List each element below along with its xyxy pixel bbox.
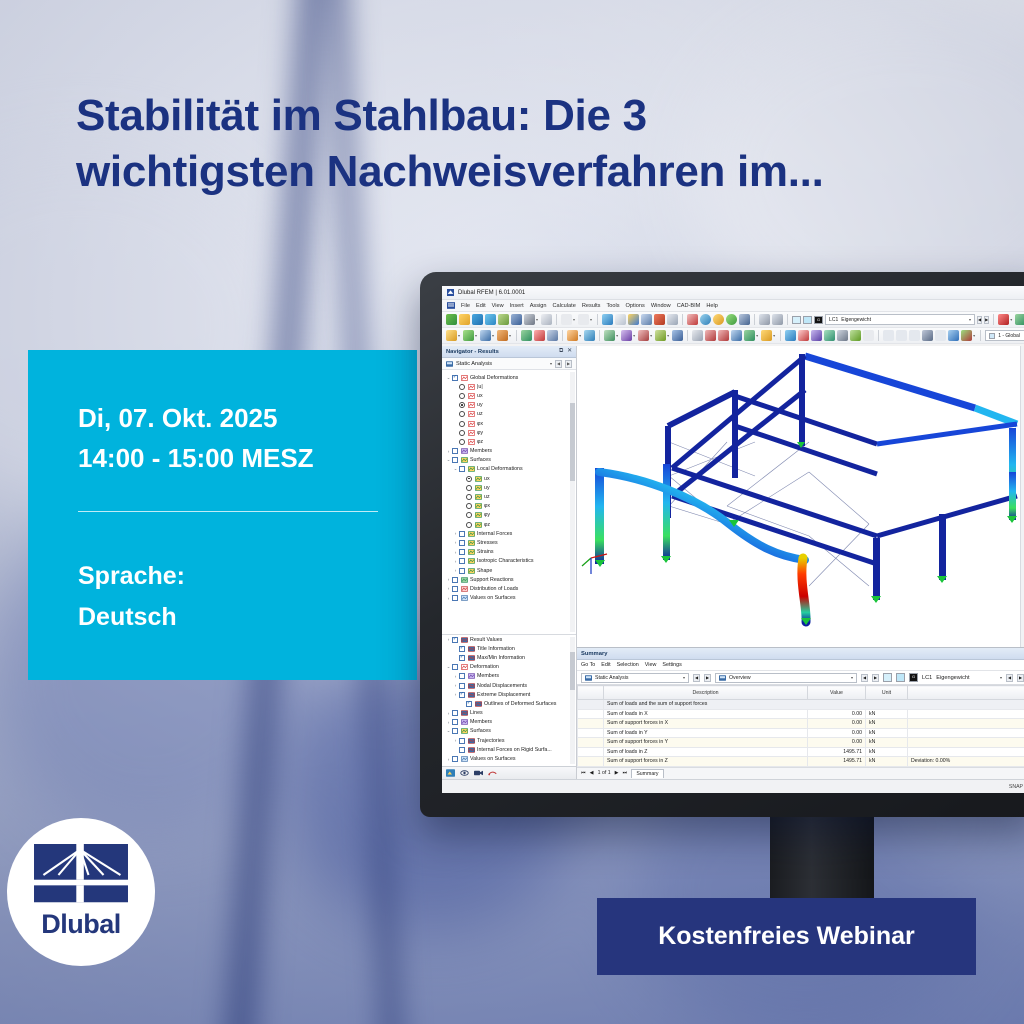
right-column-3 xyxy=(1009,472,1016,520)
member-hinge-icon[interactable] xyxy=(547,330,558,341)
surface-load-icon[interactable] xyxy=(621,330,632,341)
tree-expander[interactable]: › xyxy=(445,449,452,454)
surface-load-caret[interactable]: ▾ xyxy=(633,333,635,338)
tree-item[interactable]: ›Support Reactions xyxy=(442,575,576,584)
tree-item-label: Deformation xyxy=(470,664,499,670)
load-case-next-button[interactable]: ▶ xyxy=(984,316,989,324)
tree-radio[interactable] xyxy=(466,503,472,509)
summary-row-value: 0.00 xyxy=(808,709,866,719)
cloud-save-icon[interactable] xyxy=(485,314,496,325)
tree-expander[interactable]: › xyxy=(445,577,452,582)
tree-item[interactable]: uz xyxy=(442,492,576,501)
cloud-open-icon[interactable] xyxy=(472,314,483,325)
section-icon[interactable] xyxy=(922,330,933,341)
summary-table-row[interactable]: Sum of loads in Y0.00kN xyxy=(578,728,1024,738)
show-solids-icon[interactable] xyxy=(837,330,848,341)
summary-header: Summary xyxy=(577,648,1024,660)
surfaces-icon xyxy=(475,503,482,509)
open-file-icon[interactable] xyxy=(459,314,470,325)
pan-view-icon[interactable] xyxy=(772,314,783,325)
summary-title: Summary xyxy=(581,651,607,657)
dlubal-wordmark: Dlubal xyxy=(41,909,121,940)
navigator-analysis-value: Static Analysis xyxy=(456,361,492,367)
tree-radio[interactable] xyxy=(459,430,465,436)
redo-icon[interactable] xyxy=(578,314,589,325)
summary-table-row[interactable]: Sum of loads in Z1495.71kN xyxy=(578,747,1024,757)
summary-view-icon xyxy=(719,675,726,681)
summary-menu-selection[interactable]: Selection xyxy=(617,662,639,668)
tree-expander[interactable]: › xyxy=(452,683,459,688)
deformation-icon xyxy=(468,430,475,436)
zoom-all-icon[interactable] xyxy=(739,314,750,325)
tree-checkbox[interactable]: ✓ xyxy=(459,646,465,652)
tree-item-label: Stresses xyxy=(477,540,498,546)
summary-analysis-combo[interactable]: Static Analysis ▾ xyxy=(581,673,689,683)
summary-tab[interactable]: Summary xyxy=(631,769,663,778)
window-layout-icon[interactable] xyxy=(641,314,652,325)
tree-checkbox[interactable] xyxy=(452,756,458,762)
show-surfaces-icon[interactable] xyxy=(798,330,809,341)
tree-checkbox[interactable] xyxy=(452,710,458,716)
tree-expander[interactable]: ⌄ xyxy=(445,457,452,463)
summary-table[interactable]: Description Value Unit Sum of loads and … xyxy=(577,685,1024,767)
summary-view-caret[interactable]: ▾ xyxy=(851,675,853,680)
filter-results-icon[interactable] xyxy=(785,330,796,341)
tree-item[interactable]: ⌄Deformation xyxy=(442,663,576,672)
toolbar-separator-6 xyxy=(993,314,994,325)
menu-item-help[interactable]: Help xyxy=(706,303,718,309)
workspace-right: Summary Go To Edit Selection View Settin… xyxy=(577,346,1024,779)
summary-row-index xyxy=(578,709,604,719)
tree-expander[interactable]: › xyxy=(452,540,459,545)
right-column-1 xyxy=(873,538,880,600)
tree-item[interactable]: ›Members xyxy=(442,672,576,681)
load-case-caret[interactable]: ▾ xyxy=(969,317,971,322)
calculate-icon[interactable] xyxy=(744,330,755,341)
tree-expander[interactable]: › xyxy=(452,559,459,564)
status-snap-indicator[interactable]: SNAP xyxy=(1009,784,1023,790)
menu-item-view[interactable]: View xyxy=(492,303,504,309)
tree-checkbox[interactable] xyxy=(452,586,458,592)
navigator-tab-strip[interactable] xyxy=(442,766,576,779)
solid-load-icon[interactable] xyxy=(638,330,649,341)
tree-checkbox[interactable] xyxy=(459,738,465,744)
zoom-window-icon[interactable] xyxy=(726,314,737,325)
tree-expander[interactable]: › xyxy=(452,568,459,573)
tree-item[interactable]: ›Shape xyxy=(442,566,576,575)
tree-checkbox[interactable] xyxy=(459,673,465,679)
summary-analysis-next[interactable]: ▶ xyxy=(704,674,711,682)
print-icon[interactable] xyxy=(524,314,535,325)
new-model-icon[interactable] xyxy=(446,314,457,325)
new-member-icon[interactable] xyxy=(480,330,491,341)
axis-display-icon[interactable] xyxy=(850,330,861,341)
summary-row-description: Sum of loads in X xyxy=(604,709,808,719)
tree-expander[interactable]: › xyxy=(445,711,452,716)
printout-report-icon[interactable] xyxy=(541,314,552,325)
nodal-icon xyxy=(468,683,475,689)
clipping-icon[interactable] xyxy=(948,330,959,341)
summary-view-combo[interactable]: Overview ▾ xyxy=(715,673,857,683)
tree-expander[interactable]: › xyxy=(452,692,459,697)
new-surface-icon[interactable] xyxy=(497,330,508,341)
coordinate-system-combo[interactable]: 1 - Global xyxy=(985,330,1024,341)
tree-item-label: Members xyxy=(470,719,492,725)
imperfection-caret[interactable]: ▾ xyxy=(667,333,669,338)
tree-item[interactable]: ›Lines xyxy=(442,709,576,718)
tree-item-label: Trajectories xyxy=(477,738,504,744)
tree-item[interactable]: φz xyxy=(442,437,576,446)
show-panel-icon[interactable] xyxy=(628,314,639,325)
building-model-icon[interactable] xyxy=(705,330,716,341)
tree-checkbox[interactable] xyxy=(459,466,465,472)
navigator-tree-scrollbar[interactable] xyxy=(570,372,575,632)
deformation-icon xyxy=(468,384,475,390)
tree-radio[interactable] xyxy=(459,421,465,427)
frame-mid-2 xyxy=(663,464,670,560)
tree-expander[interactable]: › xyxy=(445,586,452,591)
zoom-in-icon[interactable] xyxy=(700,314,711,325)
tree-item[interactable]: φy xyxy=(442,428,576,437)
analysis-next-button[interactable]: ▶ xyxy=(565,360,572,368)
color-legend-icon[interactable] xyxy=(961,330,972,341)
tree-checkbox[interactable]: ✓ xyxy=(466,701,472,707)
summary-menu-bar[interactable]: Go To Edit Selection View Settings xyxy=(577,660,1024,671)
dlubal-logo-badge: Dlubal xyxy=(7,818,155,966)
deformation-dropdown-caret[interactable]: ▾ xyxy=(1010,317,1012,322)
nodal-load-caret[interactable]: ▾ xyxy=(579,333,581,338)
summary-lc-next[interactable]: ▶ xyxy=(1017,674,1024,682)
nodal-load-icon[interactable] xyxy=(567,330,578,341)
load-case-prev-button[interactable]: ◀ xyxy=(977,316,982,324)
new-node-icon[interactable] xyxy=(446,330,457,341)
event-time: 14:00 - 15:00 MESZ xyxy=(78,438,417,478)
tree-item[interactable]: ›Values on Surfaces xyxy=(442,754,576,763)
tree-item[interactable]: ›Strains xyxy=(442,548,576,557)
line-support-icon[interactable] xyxy=(534,330,545,341)
deformation-display-icon[interactable] xyxy=(998,314,1009,325)
toolbar-row-secondary[interactable]: ▾ ▾ ▾ ▾ ▾ ▾ ▾ ▾ xyxy=(442,328,1024,344)
menu-item-options[interactable]: Options xyxy=(626,303,645,309)
tree-checkbox[interactable] xyxy=(452,719,458,725)
tree-checkbox[interactable] xyxy=(452,457,458,463)
toolbar2-separator-5 xyxy=(780,330,781,341)
page-title: Stabilität im Stahlbau: Die 3 wichtigste… xyxy=(76,88,956,201)
tree-item[interactable]: |u| xyxy=(442,382,576,391)
menu-item-cad-bim[interactable]: CAD-BIM xyxy=(677,303,701,309)
navigator-tree-display[interactable]: ›✓Result Values✓Title Information✓Max/Mi… xyxy=(442,634,576,766)
analysis-caret[interactable]: ▾ xyxy=(550,361,552,366)
measure-icon[interactable] xyxy=(687,314,698,325)
tree-item[interactable]: ›✓Result Values xyxy=(442,635,576,644)
page-prev-button[interactable]: ◀ xyxy=(590,770,594,776)
support-reaction-icon[interactable] xyxy=(1015,314,1024,325)
summary-swatch-dark: G xyxy=(909,673,918,682)
summary-table-row[interactable]: Sum of support forces in X0.00kN xyxy=(578,719,1024,729)
summary-menu-view[interactable]: View xyxy=(645,662,657,668)
tree-checkbox[interactable] xyxy=(459,568,465,574)
tree-item[interactable]: ›Nodal Displacements xyxy=(442,681,576,690)
summary-row-unit: kN xyxy=(866,728,908,738)
show-navigator-icon[interactable] xyxy=(602,314,613,325)
delete-object-icon[interactable] xyxy=(672,330,683,341)
tree-expander[interactable]: › xyxy=(452,674,459,679)
tree-expander[interactable]: ⌄ xyxy=(445,664,452,670)
navigator-float-icon[interactable]: ⧉ xyxy=(559,348,563,355)
navigator-close-icon[interactable]: ✕ xyxy=(567,348,572,355)
steel-frame-model xyxy=(577,346,1024,642)
page-last-button[interactable]: ⏭ xyxy=(623,770,628,777)
tree-item[interactable]: ›Values on Surfaces xyxy=(442,594,576,603)
tree-item-label: Result Values xyxy=(470,637,502,643)
tree-item[interactable]: Internal Forces on Rigid Surfa... xyxy=(442,745,576,754)
summary-lc-caret[interactable]: ▾ xyxy=(1000,675,1002,680)
summary-menu-settings[interactable]: Settings xyxy=(662,662,681,668)
summary-row-index xyxy=(578,738,604,748)
menu-item-tools[interactable]: Tools xyxy=(606,303,619,309)
tree-checkbox[interactable]: ✓ xyxy=(459,692,465,698)
summary-menu-edit[interactable]: Edit xyxy=(601,662,610,668)
summary-table-row[interactable]: Sum of support forces in Z1495.71kNDevia… xyxy=(578,757,1024,767)
summary-menu-goto[interactable]: Go To xyxy=(581,662,595,668)
results-tab-icon[interactable] xyxy=(488,769,497,777)
tree-item[interactable]: φz xyxy=(442,520,576,529)
tree-expander[interactable]: › xyxy=(445,637,452,642)
navigator-analysis-selector[interactable]: Static Analysis ▾ ◀ ▶ xyxy=(442,358,576,370)
zoom-out-icon[interactable] xyxy=(713,314,724,325)
render-tab-icon[interactable] xyxy=(474,769,483,777)
tree-item[interactable]: ⌄Local Deformations xyxy=(442,465,576,474)
visibility-tab-icon[interactable] xyxy=(460,769,469,777)
tree-checkbox[interactable] xyxy=(459,531,465,537)
tree-checkbox[interactable] xyxy=(459,540,465,546)
render-view-icon[interactable] xyxy=(654,314,665,325)
member-load-caret[interactable]: ▾ xyxy=(616,333,618,338)
navigator-display-scrollbar[interactable] xyxy=(570,637,575,764)
tree-expander[interactable]: › xyxy=(445,720,452,725)
tree-checkbox[interactable] xyxy=(452,577,458,583)
member-load-icon[interactable] xyxy=(604,330,615,341)
tree-checkbox[interactable] xyxy=(459,683,465,689)
summary-footer[interactable]: ⏮ ◀ 1 of 1 ▶ ⏭ Summary xyxy=(577,767,1024,779)
tree-radio[interactable] xyxy=(459,439,465,445)
line-style-icon[interactable] xyxy=(863,330,874,341)
toolbar-row-primary[interactable]: ▾ ▾ ▾ xyxy=(442,312,1024,328)
tree-radio[interactable] xyxy=(466,494,472,500)
navigator-header: Navigator - Results ⧉ ✕ xyxy=(442,346,576,358)
tree-expander[interactable]: ⌄ xyxy=(445,375,452,381)
tree-item[interactable]: φy xyxy=(442,511,576,520)
surface-dropdown-caret[interactable]: ▾ xyxy=(509,333,511,338)
tree-expander[interactable]: › xyxy=(452,550,459,555)
summary-row-note: Deviation: 0.00% xyxy=(908,757,1024,767)
app-title-text: Dlubal RFEM | 6.01.0001 xyxy=(458,290,525,296)
tree-item-label: Members xyxy=(470,448,492,454)
tree-radio[interactable] xyxy=(466,512,472,518)
legend-caret[interactable]: ▾ xyxy=(973,333,975,338)
show-members-icon[interactable] xyxy=(811,330,822,341)
tree-item[interactable]: ›Distribution of Loads xyxy=(442,584,576,593)
summary-table-row[interactable]: Sum of support forces in Y0.00kN xyxy=(578,738,1024,748)
load-case-combo[interactable]: LC1 Eigengewicht ▾ xyxy=(825,314,975,325)
tree-item[interactable]: ›Members xyxy=(442,718,576,727)
analysis-prev-button[interactable]: ◀ xyxy=(555,360,562,368)
tree-expander[interactable]: › xyxy=(452,531,459,536)
node-dropdown-caret[interactable]: ▾ xyxy=(458,333,460,338)
navigator-tree-results[interactable]: ⌄✓Global Deformations|u|uxuyuzφxφyφz›Mem… xyxy=(442,370,576,634)
tree-expander[interactable]: › xyxy=(445,757,452,762)
app-menu-bar[interactable]: File Edit View Insert Assign Calculate R… xyxy=(442,300,1024,312)
event-date: Di, 07. Okt. 2025 xyxy=(78,398,417,438)
tree-item[interactable]: ›Isotropic Characteristics xyxy=(442,557,576,566)
tree-checkbox[interactable] xyxy=(452,448,458,454)
tree-checkbox[interactable]: ✓ xyxy=(452,375,458,381)
view-side-toolbar[interactable] xyxy=(1020,346,1024,647)
tree-radio[interactable] xyxy=(466,476,472,482)
save-icon[interactable] xyxy=(511,314,522,325)
load-case-code: LC1 xyxy=(829,317,838,323)
tree-item[interactable]: ux xyxy=(442,474,576,483)
new-line-icon[interactable] xyxy=(463,330,474,341)
tree-radio[interactable] xyxy=(466,522,472,528)
tree-item-label: Global Deformations xyxy=(470,375,518,381)
tree-item[interactable]: ›Internal Forces xyxy=(442,529,576,538)
tree-checkbox[interactable] xyxy=(452,664,458,670)
print-dropdown-caret[interactable]: ▾ xyxy=(536,317,538,322)
tree-item[interactable]: φx xyxy=(442,419,576,428)
summary-view-next[interactable]: ▶ xyxy=(872,674,879,682)
right-column-2 xyxy=(939,514,946,580)
surfaces-icon xyxy=(468,531,475,537)
tree-radio[interactable] xyxy=(466,485,472,491)
model-3d-view[interactable] xyxy=(577,346,1024,647)
purlins xyxy=(672,356,1017,564)
tree-radio[interactable] xyxy=(459,393,465,399)
rotate-view-icon[interactable] xyxy=(759,314,770,325)
summary-lc-prev[interactable]: ◀ xyxy=(1006,674,1013,682)
isosurface-icon[interactable] xyxy=(909,330,920,341)
tree-expander[interactable]: ⌄ xyxy=(452,466,459,472)
calculate-caret[interactable]: ▾ xyxy=(756,333,758,338)
tree-radio[interactable] xyxy=(459,402,465,408)
show-table-icon[interactable] xyxy=(615,314,626,325)
page-first-button[interactable]: ⏮ xyxy=(581,770,586,777)
tree-item[interactable]: φx xyxy=(442,502,576,511)
menu-item-edit[interactable]: Edit xyxy=(476,303,486,309)
imperfection-icon[interactable] xyxy=(655,330,666,341)
tree-item[interactable]: ›Stresses xyxy=(442,538,576,547)
tree-expander[interactable]: ⌄ xyxy=(445,728,452,734)
menu-item-results[interactable]: Results xyxy=(582,303,601,309)
menu-item-assign[interactable]: Assign xyxy=(530,303,547,309)
tree-checkbox[interactable]: ✓ xyxy=(452,637,458,643)
tree-radio[interactable] xyxy=(459,411,465,417)
tree-expander[interactable]: › xyxy=(445,596,452,601)
toolbar2-separator-7 xyxy=(980,330,981,341)
optimize-caret[interactable]: ▾ xyxy=(773,333,775,338)
summary-row-unit: kN xyxy=(866,709,908,719)
line-load-icon[interactable] xyxy=(584,330,595,341)
menu-item-file[interactable]: File xyxy=(461,303,470,309)
tree-item[interactable]: ›✓Extreme Displacement xyxy=(442,690,576,699)
isoband-icon[interactable] xyxy=(883,330,894,341)
surfaces-icon xyxy=(475,476,482,482)
summary-analysis-prev[interactable]: ◀ xyxy=(693,674,700,682)
tree-item[interactable]: uz xyxy=(442,410,576,419)
menu-item-window[interactable]: Window xyxy=(651,303,671,309)
show-loads-icon[interactable] xyxy=(824,330,835,341)
tree-checkbox[interactable] xyxy=(452,728,458,734)
members-icon xyxy=(468,673,475,679)
tree-checkbox[interactable] xyxy=(459,747,465,753)
surfaces-icon xyxy=(468,466,475,472)
angle-icon[interactable] xyxy=(935,330,946,341)
optimize-icon[interactable] xyxy=(761,330,772,341)
page-next-button[interactable]: ▶ xyxy=(615,770,619,776)
tree-item-label: Values on Surfaces xyxy=(470,595,516,601)
nodal-support-icon[interactable] xyxy=(521,330,532,341)
summary-view-prev[interactable]: ◀ xyxy=(861,674,868,682)
tree-checkbox[interactable]: ✓ xyxy=(459,655,465,661)
summary-row-index xyxy=(578,747,604,757)
tree-item[interactable]: ux xyxy=(442,391,576,400)
summary-table-row[interactable]: Sum of loads in X0.00kN xyxy=(578,709,1024,719)
project-icon[interactable] xyxy=(498,314,509,325)
solid-load-caret[interactable]: ▾ xyxy=(650,333,652,338)
summary-analysis-caret[interactable]: ▾ xyxy=(683,675,685,680)
tree-checkbox[interactable] xyxy=(452,595,458,601)
tree-item-label: Surfaces xyxy=(470,457,491,463)
undo-icon[interactable] xyxy=(561,314,572,325)
summary-selector-row[interactable]: Static Analysis ▾ ◀ ▶ Overview ▾ ◀ xyxy=(577,671,1024,685)
tree-item[interactable]: ⌄Surfaces xyxy=(442,456,576,465)
tree-radio[interactable] xyxy=(459,384,465,390)
tree-item[interactable]: ✓Title Information xyxy=(442,644,576,653)
tree-item[interactable]: ›Members xyxy=(442,447,576,456)
tree-item[interactable]: uy xyxy=(442,483,576,492)
deformation-icon xyxy=(461,664,468,670)
undo-dropdown-caret[interactable]: ▾ xyxy=(573,317,575,322)
summary-row-value: 0.00 xyxy=(808,719,866,729)
menu-item-calculate[interactable]: Calculate xyxy=(552,303,575,309)
tree-checkbox[interactable] xyxy=(459,558,465,564)
tree-item[interactable]: ✓Max/Min Information xyxy=(442,653,576,662)
menu-item-insert[interactable]: Insert xyxy=(510,303,524,309)
tree-item[interactable]: ⌄✓Global Deformations xyxy=(442,373,576,382)
grid-view-icon[interactable] xyxy=(667,314,678,325)
tree-item[interactable]: ⌄Surfaces xyxy=(442,727,576,736)
storey-icon[interactable] xyxy=(718,330,729,341)
tree-expander[interactable]: › xyxy=(452,738,459,743)
tree-item[interactable]: ✓Outlines of Deformed Surfaces xyxy=(442,699,576,708)
member-dropdown-caret[interactable]: ▾ xyxy=(492,333,494,338)
surfaces-icon xyxy=(475,522,482,528)
redo-dropdown-caret[interactable]: ▾ xyxy=(590,317,592,322)
tree-item-label: uz xyxy=(477,411,483,417)
color-scale-swatch-dark: G xyxy=(814,316,823,324)
tree-item[interactable]: uy xyxy=(442,401,576,410)
summary-row-unit: kN xyxy=(866,719,908,729)
toolbar-separator-5 xyxy=(787,314,788,325)
mesh-icon[interactable] xyxy=(731,330,742,341)
tree-item-label: φx xyxy=(484,503,490,509)
line-dropdown-caret[interactable]: ▾ xyxy=(475,333,477,338)
isoline-icon[interactable] xyxy=(896,330,907,341)
tree-item[interactable]: ›Trajectories xyxy=(442,736,576,745)
model-tab-icon[interactable] xyxy=(446,769,455,777)
dimension-icon[interactable] xyxy=(692,330,703,341)
tree-checkbox[interactable] xyxy=(459,549,465,555)
